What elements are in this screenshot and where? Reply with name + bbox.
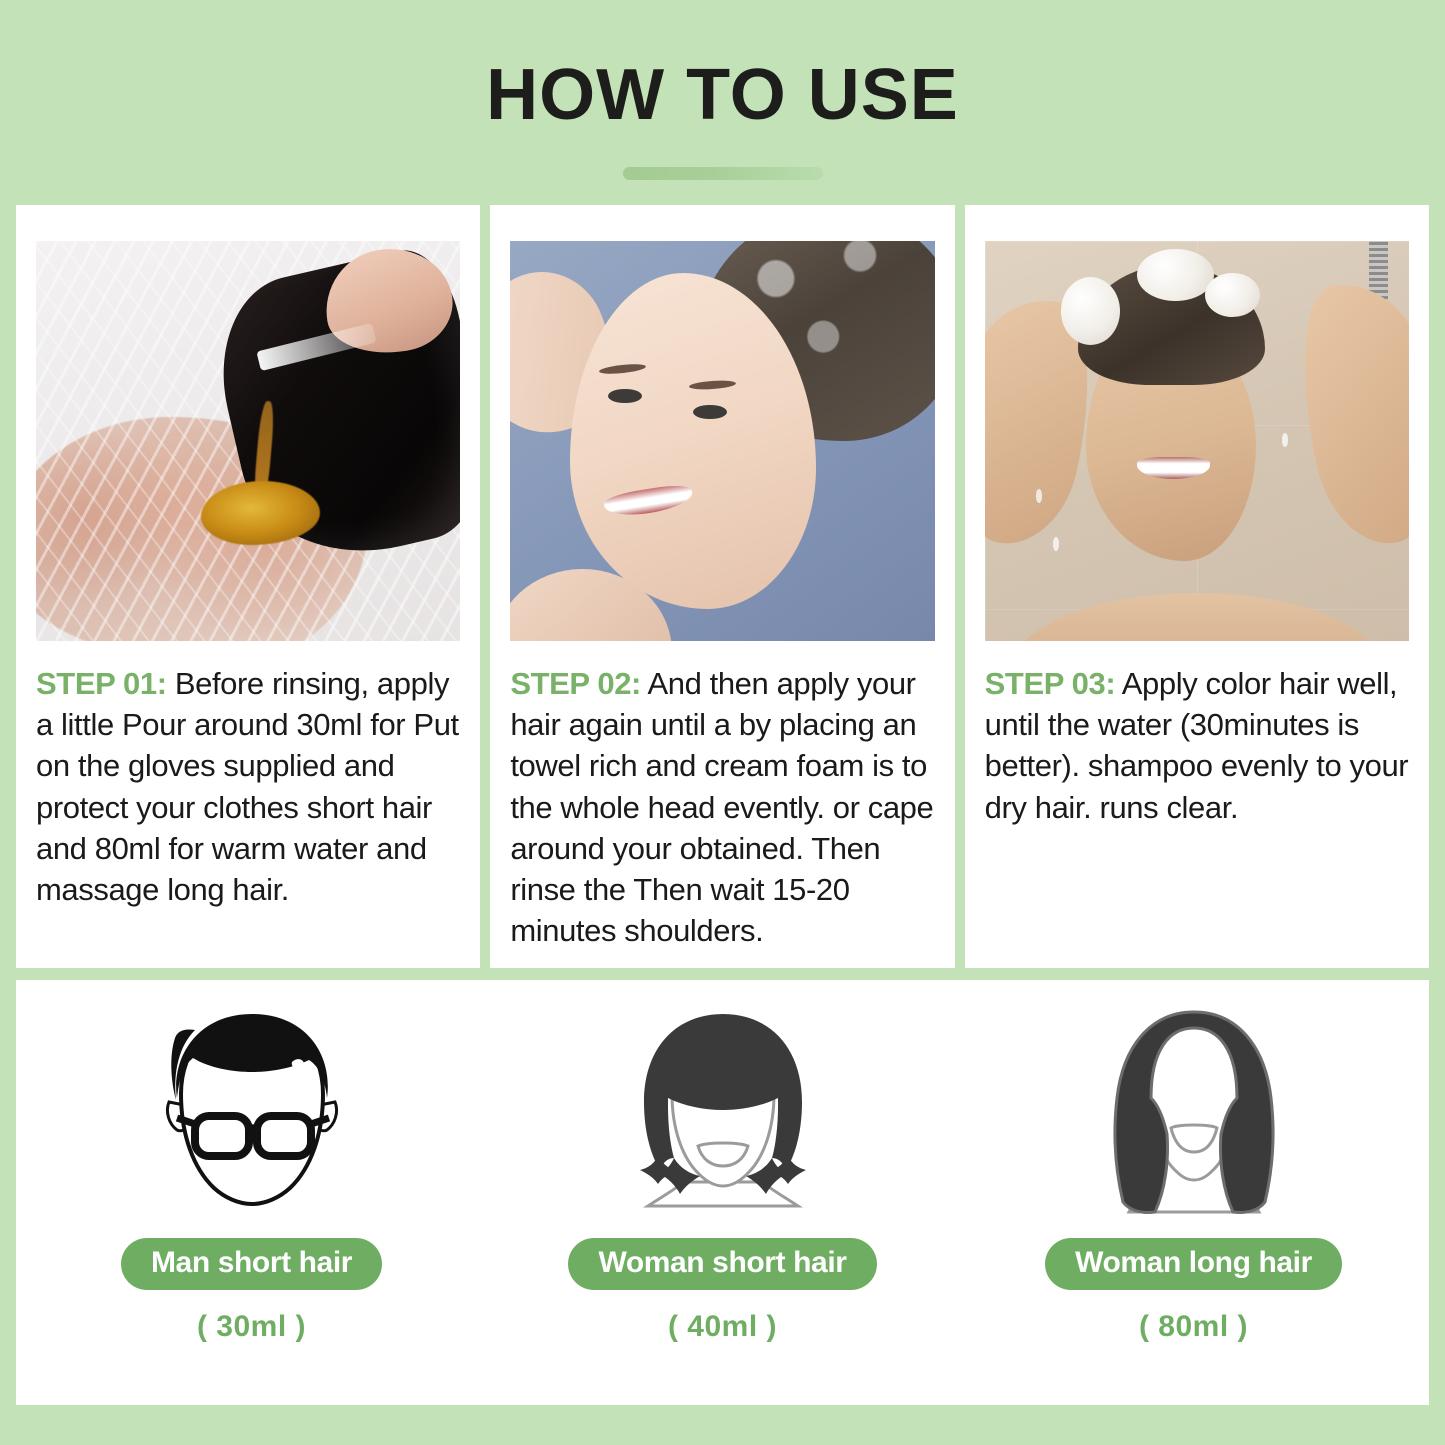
foam-bubble <box>1205 273 1260 317</box>
man-short-hair-amount: ( 30ml ) <box>197 1310 306 1344</box>
foam-bubble <box>1137 249 1213 301</box>
title-underline-accent <box>623 167 823 180</box>
woman-long-hair-amount: ( 80ml ) <box>1139 1310 1248 1344</box>
step-card-03: STEP 03: Apply color hair well, until th… <box>965 205 1429 968</box>
water-droplet <box>1053 537 1060 551</box>
step-card-02: STEP 02: And then apply your hair again … <box>490 205 954 968</box>
step-card-01: STEP 01: Before rinsing, apply a little … <box>16 205 480 968</box>
woman-long-hair-label: Woman long hair <box>1045 1238 1342 1290</box>
hair-type-woman-long: Woman long hair ( 80ml ) <box>958 980 1429 1405</box>
water-droplet <box>1036 489 1043 503</box>
step-02-text: STEP 02: And then apply your hair again … <box>510 663 934 952</box>
steps-row: STEP 01: Before rinsing, apply a little … <box>16 205 1429 968</box>
step-01-text: STEP 01: Before rinsing, apply a little … <box>36 663 460 910</box>
woman-short-hair-amount: ( 40ml ) <box>668 1310 777 1344</box>
woman-short-hair-icon <box>608 1006 838 1218</box>
hair-type-panel: Man short hair ( 30ml ) Woman short hair… <box>16 980 1429 1405</box>
man-short-hair-label: Man short hair <box>121 1238 382 1290</box>
step-02-photo <box>510 241 934 641</box>
foam-bubble <box>1061 277 1120 345</box>
step-01-body: Before rinsing, apply a little Pour arou… <box>36 666 459 907</box>
man-short-hair-icon <box>137 1006 367 1218</box>
step-02-label: STEP 02: <box>510 666 641 701</box>
hair-type-man-short: Man short hair ( 30ml ) <box>16 980 487 1405</box>
step-03-photo <box>985 241 1409 641</box>
step-03-label: STEP 03: <box>985 666 1116 701</box>
page-title: HOW TO USE <box>0 58 1445 134</box>
step-02-body: And then apply your hair again until a b… <box>510 666 933 948</box>
woman-short-hair-label: Woman short hair <box>568 1238 876 1290</box>
step-01-photo <box>36 241 460 641</box>
header: HOW TO USE <box>0 0 1445 180</box>
hair-type-woman-short: Woman short hair ( 40ml ) <box>487 980 958 1405</box>
step-03-text: STEP 03: Apply color hair well, until th… <box>985 663 1409 828</box>
step-01-label: STEP 01: <box>36 666 167 701</box>
woman-long-hair-icon <box>1079 1006 1309 1218</box>
